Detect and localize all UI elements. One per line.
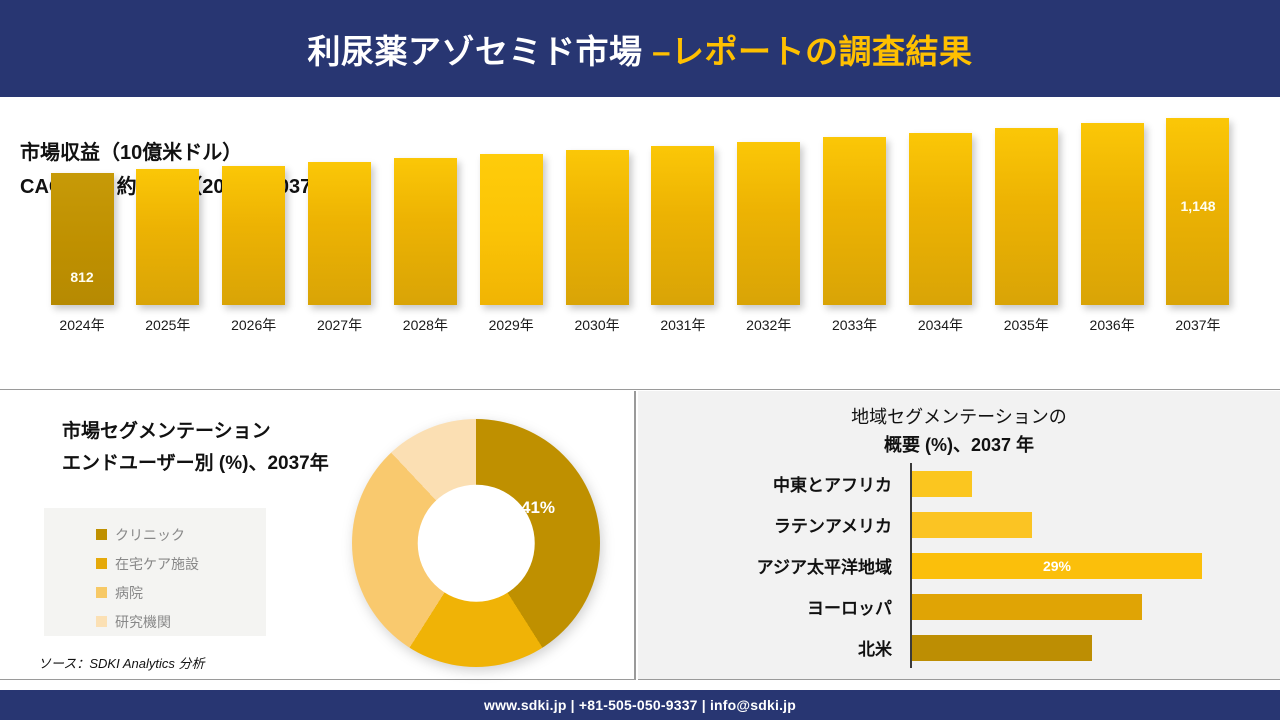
segmentation-legend: クリニック在宅ケア施設病院研究機関 xyxy=(44,508,266,636)
revenue-bar: 1,148 xyxy=(1166,118,1229,305)
revenue-bar-chart: 8121,148 2024年2025年2026年2027年2028年2029年2… xyxy=(40,110,1240,345)
regional-bar-holder xyxy=(912,635,1280,661)
revenue-x-axis: 2024年2025年2026年2027年2028年2029年2030年2031年… xyxy=(40,311,1240,339)
regional-title: 地域セグメンテーションの 概要 (%)、2037 年 xyxy=(638,403,1280,459)
revenue-x-axis-label: 2035年 xyxy=(984,315,1068,335)
footer-contact: www.sdki.jp | +81-505-050-9337 | info@sd… xyxy=(484,697,796,713)
legend-item: 在宅ケア施設 xyxy=(96,549,266,578)
revenue-x-axis-label: 2034年 xyxy=(898,315,982,335)
revenue-bar xyxy=(995,128,1058,305)
revenue-bar xyxy=(566,150,629,305)
regional-bar-row: 北米 xyxy=(638,630,1280,666)
legend-item-label: 研究機関 xyxy=(115,612,171,632)
infographic-page: 利尿薬アゾセミド市場 –レポートの調査結果 市場収益（10億米ドル） CAGR％… xyxy=(0,0,1280,720)
market-segmentation-panel: 市場セグメンテーション エンドユーザー別 (%)、2037年 クリニック在宅ケア… xyxy=(0,391,636,680)
revenue-bar xyxy=(823,137,886,305)
revenue-bar xyxy=(480,154,543,305)
revenue-bar-cell xyxy=(555,150,639,305)
revenue-bar-cell xyxy=(813,137,897,305)
revenue-bar-cell xyxy=(1070,123,1154,305)
revenue-x-axis-label: 2028年 xyxy=(383,315,467,335)
revenue-bar-cell xyxy=(898,133,982,305)
revenue-bar-value: 812 xyxy=(70,269,93,285)
page-title: 利尿薬アゾセミド市場 –レポートの調査結果 xyxy=(307,25,972,73)
revenue-bar xyxy=(222,166,285,305)
regional-bar-rows: 中東とアフリカラテンアメリカアジア太平洋地域29%ヨーロッパ北米 xyxy=(638,463,1280,668)
revenue-x-axis-label: 2029年 xyxy=(469,315,553,335)
page-header: 利尿薬アゾセミド市場 –レポートの調査結果 xyxy=(0,0,1280,97)
revenue-bar xyxy=(308,162,371,305)
revenue-bar xyxy=(651,146,714,305)
legend-item: 研究機関 xyxy=(96,607,266,636)
legend-item: 病院 xyxy=(96,578,266,607)
revenue-x-axis-label: 2031年 xyxy=(641,315,725,335)
regional-bar xyxy=(912,471,972,497)
regional-title-line1: 地域セグメンテーションの xyxy=(851,407,1067,427)
regional-bar-label: ヨーロッパ xyxy=(638,594,904,619)
regional-segmentation-panel: 地域セグメンテーションの 概要 (%)、2037 年 中東とアフリカラテンアメリ… xyxy=(638,391,1280,680)
regional-bar-row: 中東とアフリカ xyxy=(638,466,1280,502)
revenue-bar-cell: 812 xyxy=(40,173,124,305)
regional-bar xyxy=(912,512,1032,538)
segmentation-title-line2: エンドユーザー別 (%)、2037年 xyxy=(62,448,329,480)
regional-bar-holder: 29% xyxy=(912,553,1280,579)
source-note: ソース：SDKI Analytics 分析 xyxy=(38,653,204,672)
revenue-bar-cell xyxy=(641,146,725,305)
legend-swatch-icon xyxy=(96,529,107,540)
revenue-bar xyxy=(909,133,972,305)
revenue-bar xyxy=(1081,123,1144,305)
revenue-x-axis-label: 2027年 xyxy=(298,315,382,335)
regional-bar xyxy=(912,635,1092,661)
donut-highlight-label: 41% xyxy=(521,498,555,518)
regional-bar-label: ラテンアメリカ xyxy=(638,512,904,537)
segmentation-title-line1: 市場セグメンテーション xyxy=(62,421,271,442)
revenue-x-axis-label: 2030年 xyxy=(555,315,639,335)
regional-bar-value: 29% xyxy=(1043,558,1071,574)
page-title-main: 利尿薬アゾセミド市場 xyxy=(307,33,652,70)
regional-bar-row: ヨーロッパ xyxy=(638,589,1280,625)
legend-swatch-icon xyxy=(96,558,107,569)
legend-swatch-icon xyxy=(96,616,107,627)
regional-bar-row: ラテンアメリカ xyxy=(638,507,1280,543)
revenue-bar-cell xyxy=(383,158,467,305)
regional-bar-holder xyxy=(912,512,1280,538)
revenue-bar-cell xyxy=(298,162,382,305)
regional-bar-row: アジア太平洋地域29% xyxy=(638,548,1280,584)
legend-item-label: 在宅ケア施設 xyxy=(115,554,199,574)
page-title-sub: –レポートの調査結果 xyxy=(652,33,972,70)
revenue-x-axis-label: 2024年 xyxy=(40,315,124,335)
segmentation-donut-chart: 41% xyxy=(352,419,600,667)
regional-bar-holder xyxy=(912,594,1280,620)
revenue-bar-cell: 1,148 xyxy=(1156,118,1240,305)
legend-item-label: クリニック xyxy=(115,525,185,545)
revenue-bar-cell xyxy=(727,142,811,305)
regional-bar-label: 北米 xyxy=(638,635,904,660)
regional-bar-holder xyxy=(912,471,1280,497)
market-revenue-panel: 市場収益（10億米ドル） CAGR％ - 約2.7%（2025―2037年） 8… xyxy=(0,100,1280,390)
revenue-bar-cell xyxy=(469,154,553,305)
revenue-x-axis-label: 2033年 xyxy=(813,315,897,335)
donut-hole xyxy=(418,485,535,602)
legend-item-label: 病院 xyxy=(115,583,143,603)
revenue-x-axis-label: 2037年 xyxy=(1156,315,1240,335)
revenue-bar-value: 1,148 xyxy=(1180,198,1215,214)
revenue-bar-cell xyxy=(126,169,210,305)
regional-bar xyxy=(912,594,1142,620)
revenue-x-axis-label: 2025年 xyxy=(126,315,210,335)
regional-bar: 29% xyxy=(912,553,1202,579)
revenue-x-axis-label: 2032年 xyxy=(727,315,811,335)
regional-bar-label: アジア太平洋地域 xyxy=(638,553,904,578)
regional-title-line2: 概要 (%)、2037 年 xyxy=(884,435,1034,455)
regional-bar-chart: 中東とアフリカラテンアメリカアジア太平洋地域29%ヨーロッパ北米 xyxy=(638,463,1280,668)
regional-bar-label: 中東とアフリカ xyxy=(638,471,904,496)
revenue-bar: 812 xyxy=(51,173,114,305)
revenue-bar xyxy=(737,142,800,305)
revenue-bar xyxy=(136,169,199,305)
revenue-x-axis-label: 2036年 xyxy=(1070,315,1154,335)
legend-item: クリニック xyxy=(96,520,266,549)
page-footer: www.sdki.jp | +81-505-050-9337 | info@sd… xyxy=(0,690,1280,720)
revenue-bar xyxy=(394,158,457,305)
revenue-x-axis-label: 2026年 xyxy=(212,315,296,335)
revenue-bar-cell xyxy=(212,166,296,305)
legend-swatch-icon xyxy=(96,587,107,598)
segmentation-title: 市場セグメンテーション エンドユーザー別 (%)、2037年 xyxy=(62,416,329,480)
revenue-bar-cell xyxy=(984,128,1068,305)
revenue-bars: 8121,148 xyxy=(40,110,1240,305)
